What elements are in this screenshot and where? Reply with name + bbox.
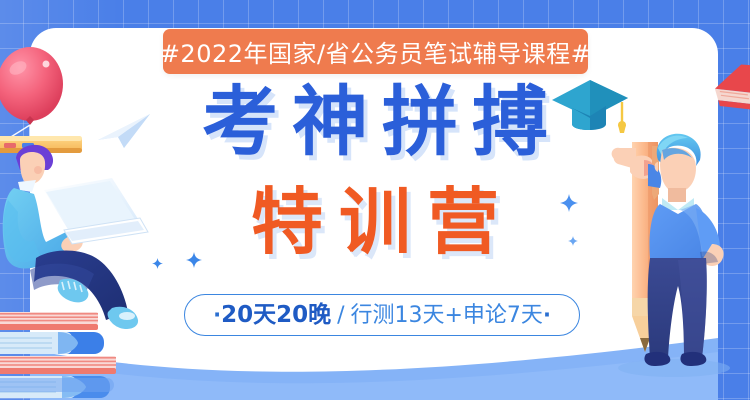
course-detail: 行测13天+申论7天	[351, 303, 543, 328]
course-duration: 20天20晚	[221, 302, 331, 328]
graduation-cap-icon	[548, 78, 632, 138]
sparkle-diamond-icon	[568, 236, 578, 246]
ribbon-text: #2022年国家/省公务员笔试辅导课程#	[160, 34, 591, 69]
student-on-book-stack-illustration	[0, 140, 170, 400]
pill-separator: /	[331, 303, 350, 328]
course-info-text: ·20天20晚/行测13天+申论7天·	[213, 304, 551, 327]
book-stack-shadow	[0, 376, 120, 394]
course-info-pill: ·20天20晚/行测13天+申论7天·	[184, 294, 580, 336]
promo-banner: #2022年国家/省公务员笔试辅导课程# 考神拼搏 特训营 ·20天20晚/行测…	[0, 0, 750, 400]
pill-lead-dot: ·	[213, 303, 221, 327]
ribbon-banner: #2022年国家/省公务员笔试辅导课程#	[163, 29, 588, 74]
man-with-pencil-illustration	[596, 120, 750, 380]
pill-trail-dot: ·	[543, 303, 551, 327]
sparkle-diamond-icon	[560, 194, 578, 212]
open-book-icon	[708, 72, 750, 136]
sparkle-diamond-icon	[186, 252, 202, 268]
sparkle-diamond-icon	[152, 258, 163, 269]
